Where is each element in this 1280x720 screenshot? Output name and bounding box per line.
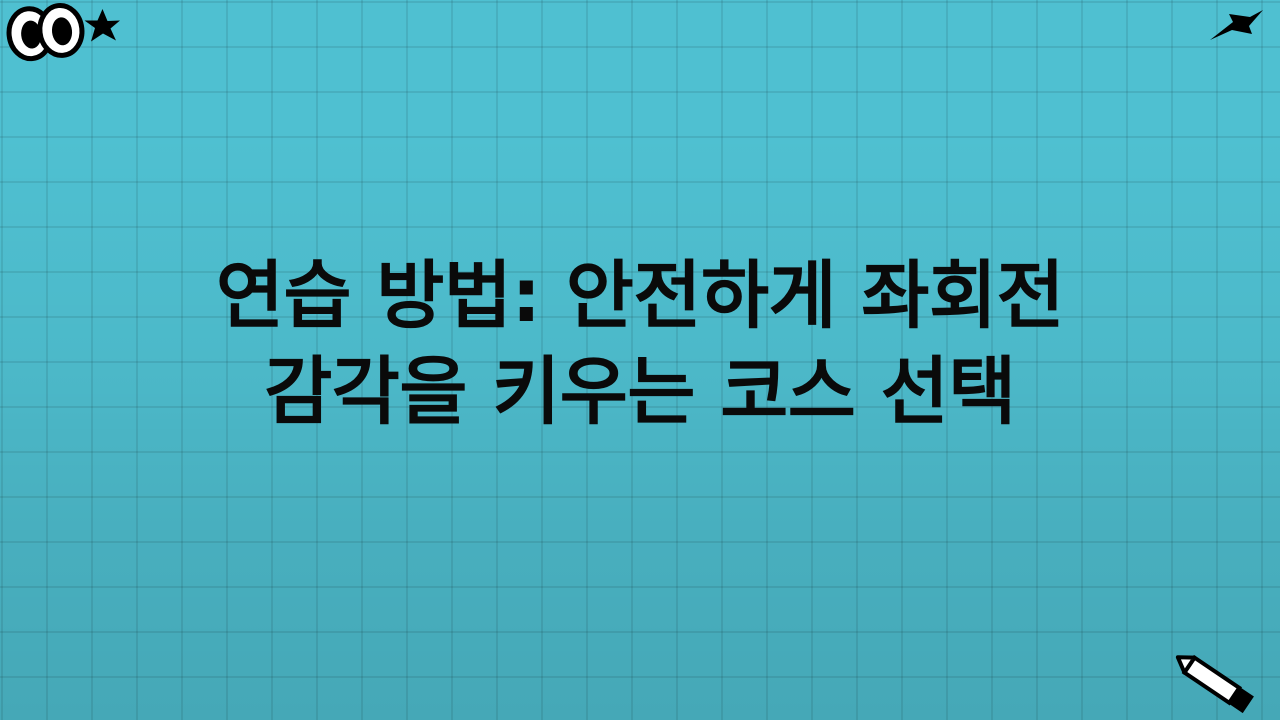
star-icon (82, 6, 122, 51)
page-title: 연습 방법: 안전하게 좌회전 감각을 키우는 코스 선택 (0, 248, 1280, 440)
arrow-icon (1206, 4, 1268, 55)
slide-canvas: 연습 방법: 안전하게 좌회전 감각을 키우는 코스 선택 (0, 0, 1280, 720)
title-line-2: 감각을 키우는 코스 선택 (60, 344, 1220, 440)
eyes-icon (6, 2, 86, 67)
pencil-icon (1168, 648, 1264, 720)
title-line-1: 연습 방법: 안전하게 좌회전 (60, 248, 1220, 344)
